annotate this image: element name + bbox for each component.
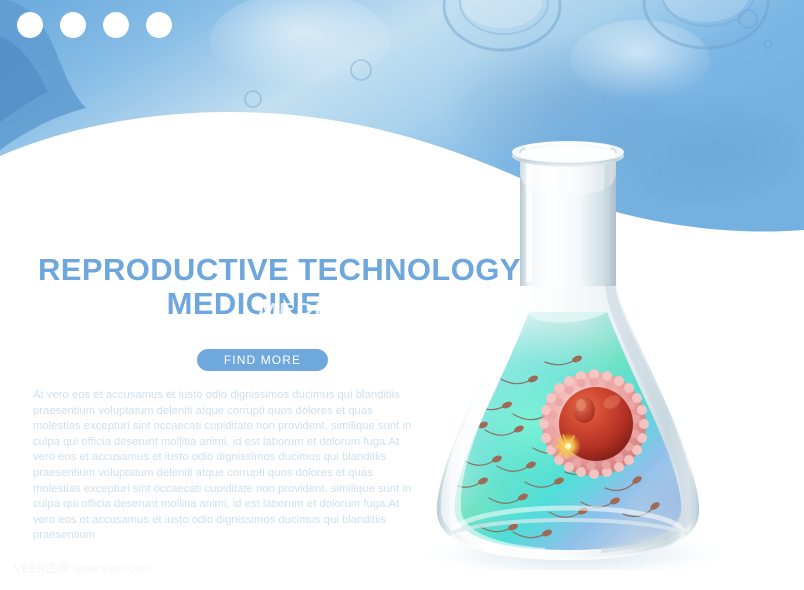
nucleus-highlight — [576, 399, 586, 411]
page-title-line2: MEDICINE — [38, 286, 450, 323]
page-title-line1: REPRODUCTIVE TECHNOLOGY — [38, 252, 498, 289]
site-watermark: VEER图库 www.veer.com — [14, 560, 151, 576]
flask-rim — [512, 141, 624, 167]
erlenmeyer-flask-illustration — [425, 130, 804, 570]
egg-cell-ovum — [539, 369, 649, 479]
hero-body-text: At vero eos et accusamus et iusto odio d… — [33, 388, 418, 544]
hero-copy-block: REPRODUCTIVE TECHNOLOGY MEDICINE MEDICIN… — [0, 0, 470, 590]
poster-canvas: REPRODUCTIVE TECHNOLOGY MEDICINE MEDICIN… — [0, 0, 804, 590]
sheen-2 — [570, 20, 710, 100]
find-more-button[interactable]: FIND MORE — [197, 349, 328, 371]
fertilization-spark — [555, 433, 581, 459]
